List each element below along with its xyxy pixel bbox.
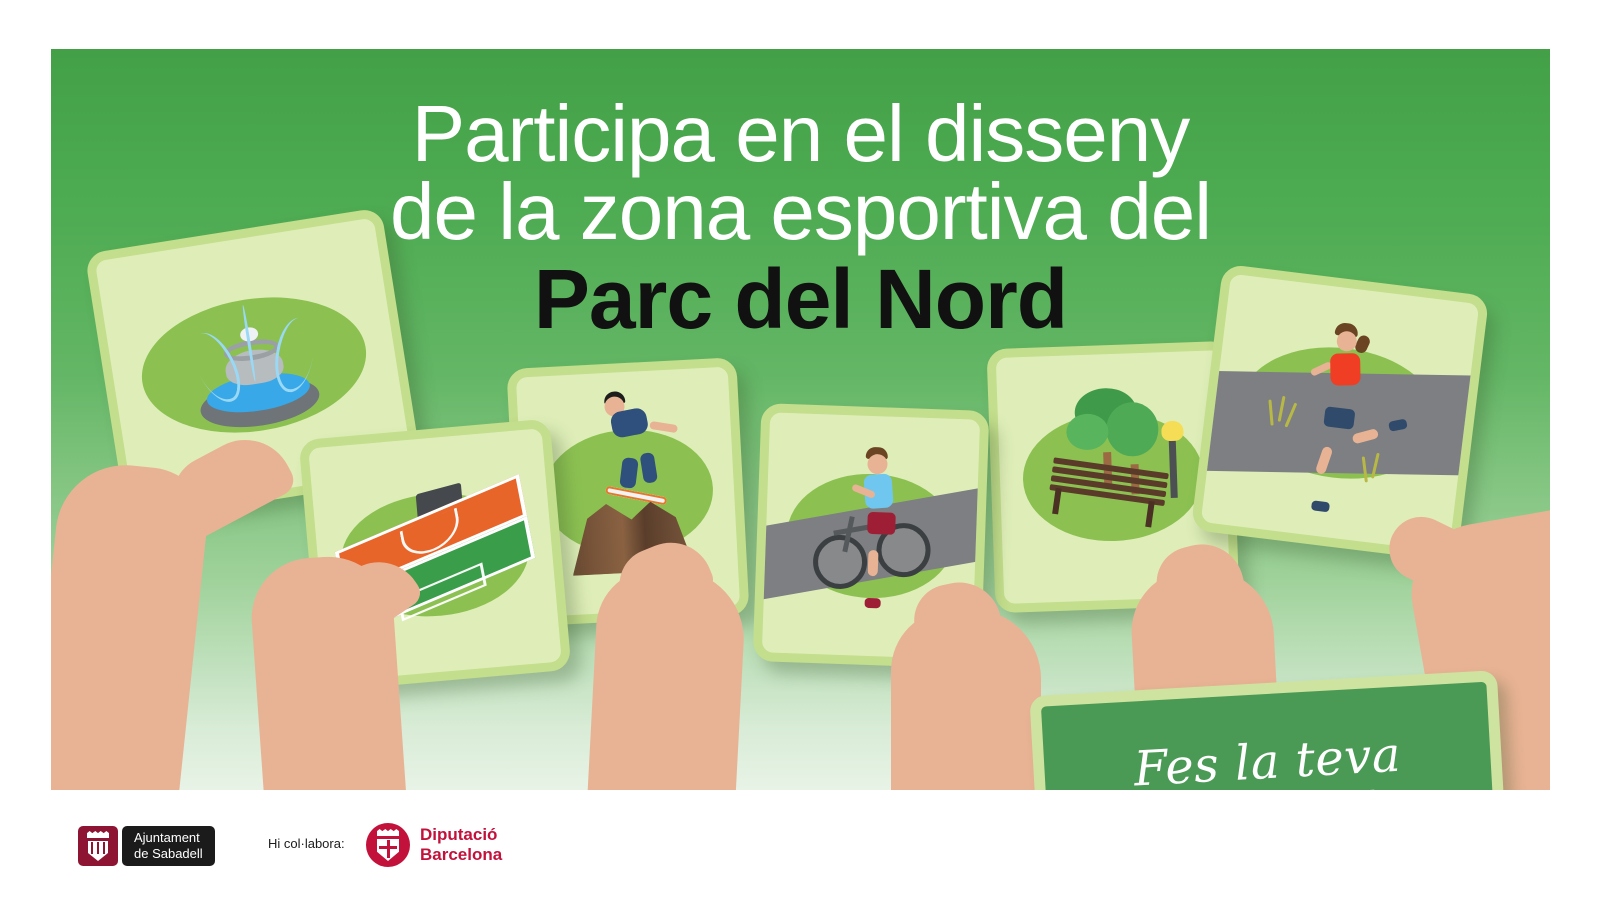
runner-illustration <box>1201 274 1480 553</box>
ajuntament-line-2: de Sabadell <box>134 846 203 862</box>
headline-line-1: Participa en el disseny <box>51 95 1550 173</box>
banner-stage: Participa en el disseny de la zona espor… <box>0 0 1600 900</box>
diputacio-line-1: Diputació <box>420 825 497 844</box>
diputacio-wordmark: Diputació Barcelona <box>420 825 502 866</box>
cyclist-shoe-icon <box>864 598 880 609</box>
card-running-path[interactable] <box>1191 264 1490 563</box>
runner-torso-icon <box>1330 353 1361 386</box>
runner-shorts-icon <box>1323 406 1355 430</box>
ajuntament-line-1: Ajuntament <box>134 830 203 846</box>
cyclist-leg-icon <box>867 550 878 576</box>
collaborate-label: Hi col·labora: <box>268 836 345 851</box>
logo-ajuntament-sabadell[interactable]: Ajuntament de Sabadell <box>78 826 215 866</box>
diputacio-crest-icon <box>366 823 410 867</box>
cyclist-shorts-icon <box>867 512 896 535</box>
ajuntament-wordmark: Ajuntament de Sabadell <box>122 826 215 866</box>
cyclist-head-icon <box>867 454 888 475</box>
footer-logos: Ajuntament de Sabadell Hi col·labora: Di… <box>0 790 1600 900</box>
street-lamp-light-icon <box>1161 420 1184 441</box>
runner-shoe-icon <box>1310 500 1329 512</box>
logo-diputacio-barcelona[interactable]: Diputació Barcelona <box>366 823 502 867</box>
diputacio-line-2: Barcelona <box>420 845 502 864</box>
sabadell-crest-icon <box>78 826 118 866</box>
